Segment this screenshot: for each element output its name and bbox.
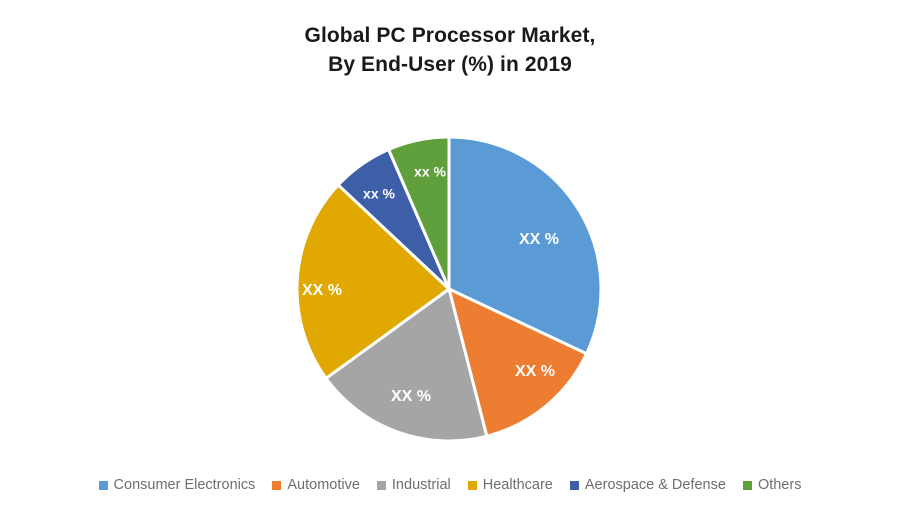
legend-item[interactable]: Healthcare xyxy=(468,478,553,493)
legend-item-label: Consumer Electronics xyxy=(114,478,256,493)
pie-data-label: XX % xyxy=(519,231,559,248)
legend-item[interactable]: Consumer Electronics xyxy=(99,478,256,493)
pie-svg: XX %XX %XX %XX %xx %xx % xyxy=(0,100,900,460)
pie-data-label: xx % xyxy=(414,164,446,180)
legend-item[interactable]: Aerospace & Defense xyxy=(570,478,726,493)
chart-title: Global PC Processor Market, By End-User … xyxy=(0,22,900,80)
chart-title-line-2: By End-User (%) in 2019 xyxy=(0,51,900,80)
legend-swatch-icon xyxy=(468,481,477,490)
legend-item-label: Aerospace & Defense xyxy=(585,478,726,493)
legend-item[interactable]: Automotive xyxy=(272,478,360,493)
pie-data-label: XX % xyxy=(515,363,555,380)
pie-data-label: xx % xyxy=(363,186,395,202)
legend-item[interactable]: Others xyxy=(743,478,802,493)
legend-swatch-icon xyxy=(570,481,579,490)
legend-swatch-icon xyxy=(99,481,108,490)
legend-item-label: Healthcare xyxy=(483,478,553,493)
legend-item[interactable]: Industrial xyxy=(377,478,451,493)
legend-item-label: Industrial xyxy=(392,478,451,493)
legend-swatch-icon xyxy=(743,481,752,490)
pie-chart-figure: Global PC Processor Market, By End-User … xyxy=(0,0,900,525)
pie-slice-group xyxy=(297,137,601,441)
legend-swatch-icon xyxy=(377,481,386,490)
legend-item-label: Others xyxy=(758,478,802,493)
pie-data-label: XX % xyxy=(391,388,431,405)
chart-title-line-1: Global PC Processor Market, xyxy=(0,22,900,51)
plot-area: XX %XX %XX %XX %xx %xx % xyxy=(0,100,900,460)
chart-legend: Consumer ElectronicsAutomotiveIndustrial… xyxy=(0,478,900,493)
legend-item-label: Automotive xyxy=(287,478,360,493)
legend-swatch-icon xyxy=(272,481,281,490)
pie-data-label: XX % xyxy=(302,282,342,299)
